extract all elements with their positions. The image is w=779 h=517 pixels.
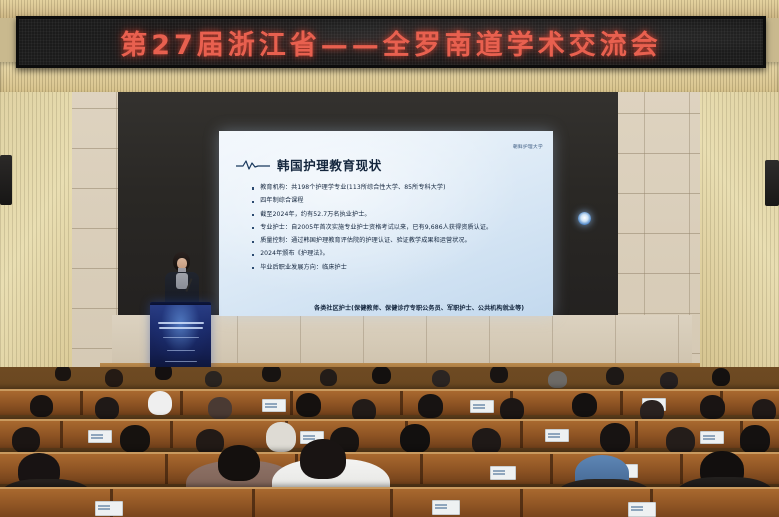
attendee-head <box>418 394 443 418</box>
attendee-head <box>606 367 624 385</box>
slide-bullet-list: 教育机构：共198个护理学专业(113所综合性大学、85所专科大学) 四年制综合… <box>252 185 539 278</box>
attendee-head <box>95 397 119 420</box>
podium-text-line <box>163 337 199 338</box>
attendee-head <box>205 371 222 387</box>
list-item: 教育机构：共198个护理学专业(113所综合性大学、85所专科大学) <box>252 185 539 192</box>
attendee-head <box>296 393 321 417</box>
projection-slide: 朝鲜护理大学 韩国护理教育现状 教育机构：共198个护理学专业(113所综合性大… <box>219 131 553 316</box>
attendee-head <box>700 395 725 419</box>
attendee-head <box>600 423 630 453</box>
attendee-head <box>120 425 150 453</box>
attendee-head <box>218 445 260 481</box>
seat-number-label <box>628 502 656 517</box>
bullet-dot-icon <box>252 267 254 269</box>
wall-light-icon <box>578 212 591 225</box>
list-item: 毕业后职业发展方向：临床护士 <box>252 265 539 272</box>
right-wall-wood-panel <box>694 88 779 408</box>
attendee-head <box>55 367 71 381</box>
wall-speaker-right-icon <box>765 160 779 206</box>
wall-speaker-left-icon <box>0 155 12 205</box>
list-item: 2024年颁布《护理法》。 <box>252 251 539 258</box>
attendee-hood <box>266 422 296 452</box>
attendee-head <box>740 425 770 454</box>
slide-title: 韩国护理教育现状 <box>277 155 382 174</box>
seat-number-label <box>262 399 286 412</box>
attendee-head <box>490 367 508 383</box>
bullet-text: 专业护士：自2005年首次实施专业护士资格考试以来，已有9,686人获得资质认证… <box>260 225 492 232</box>
attendee-head <box>572 393 597 417</box>
seat-number-label <box>95 501 123 516</box>
bullet-dot-icon <box>252 187 254 189</box>
bullet-dot-icon <box>252 227 254 229</box>
list-item: 截至2024年，约有52.7万名执业护士。 <box>252 212 539 219</box>
slide-title-row: 韩国护理教育现状 <box>236 155 382 174</box>
bullet-text: 四年制综合课程 <box>260 198 303 205</box>
presenter <box>162 252 202 304</box>
auditorium-seating <box>0 367 779 517</box>
attendee-head <box>666 427 695 454</box>
slide-sub-line: 各类社区护士(保健教师、保健诊疗专职公务员、军职护士、公共机构就业等) <box>314 303 524 312</box>
ecg-heartbeat-icon <box>236 159 270 171</box>
seat-number-label <box>432 500 460 515</box>
attendee-head <box>300 439 346 479</box>
list-item: 专业护士：自2005年首次实施专业护士资格考试以来，已有9,686人获得资质认证… <box>252 225 539 232</box>
attendee-head <box>105 369 123 387</box>
attendee-cap <box>148 391 172 415</box>
led-banner-text: 第27届浙江省——全罗南道学术交流会 <box>120 23 662 62</box>
attendee-head <box>500 398 524 421</box>
attendee-head <box>372 367 391 384</box>
list-item: 质量控制：通过韩国护理教育评估院的护理认证、验证教学成果和运营状况。 <box>252 238 539 245</box>
seat-number-label <box>470 400 494 413</box>
slide-organization-label: 朝鲜护理大学 <box>513 144 543 150</box>
bullet-text: 毕业后职业发展方向：临床护士 <box>260 265 347 272</box>
bullet-dot-icon <box>252 241 254 243</box>
led-banner: 第27届浙江省——全罗南道学术交流会 <box>16 16 766 68</box>
bullet-text: 质量控制：通过韩国护理教育评估院的护理认证、验证教学成果和运营状况。 <box>260 238 471 245</box>
attendee-head <box>12 427 40 453</box>
attendee-head <box>548 371 567 388</box>
attendee-head <box>155 367 172 380</box>
list-item: 四年制综合课程 <box>252 198 539 205</box>
attendee-head <box>472 428 501 455</box>
seat-number-label <box>490 466 516 480</box>
attendee-head <box>262 367 281 382</box>
podium-text-line <box>159 327 203 329</box>
bullet-dot-icon <box>252 201 254 203</box>
bullet-text: 2024年颁布《护理法》。 <box>260 251 329 258</box>
podium-top-surface <box>150 302 211 305</box>
attendee-head <box>208 397 232 419</box>
seat-number-label <box>88 430 112 443</box>
bullet-dot-icon <box>252 254 254 256</box>
seat-number-label <box>700 431 724 444</box>
attendee-head <box>660 372 678 389</box>
attendee-head <box>320 369 337 386</box>
attendee-head <box>432 370 450 387</box>
bullet-dot-icon <box>252 214 254 216</box>
podium-text-line <box>165 361 197 362</box>
seat-row[interactable] <box>0 419 779 448</box>
attendee-head <box>30 395 53 417</box>
attendee-head <box>712 368 730 386</box>
podium-text-line <box>167 350 195 351</box>
bullet-text: 截至2024年，约有52.7万名执业护士。 <box>260 212 370 219</box>
conference-podium <box>150 302 211 370</box>
attendee-head <box>400 424 430 453</box>
auditorium-photo: 第27届浙江省——全罗南道学术交流会 朝鲜护理大学 韩国护理教育现状 教育机构：… <box>0 0 779 517</box>
bullet-text: 教育机构：共198个护理学专业(113所综合性大学、85所专科大学) <box>260 185 445 192</box>
podium-text-line <box>158 322 204 324</box>
seat-number-label <box>545 429 569 442</box>
